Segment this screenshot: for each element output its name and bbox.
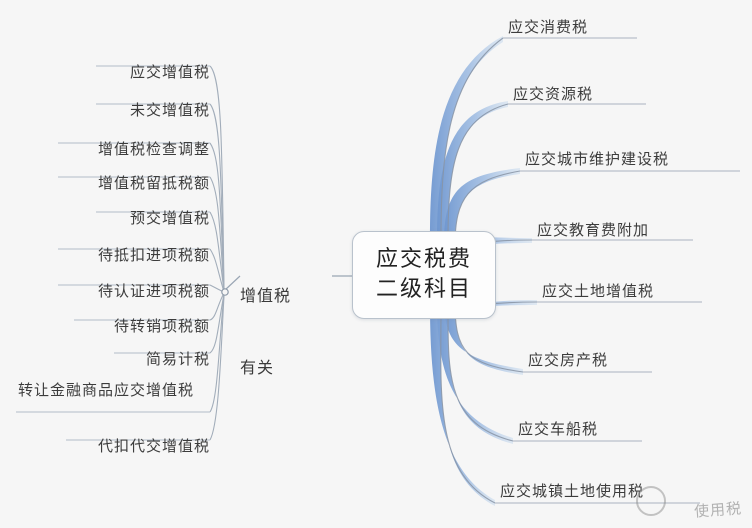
center-node-line2: 二级科目 [376, 275, 472, 305]
right-leaf-3[interactable]: 应交教育费附加 [537, 221, 689, 240]
right-leaf-2[interactable]: 应交城市维护建设税 [525, 150, 737, 169]
mid-node-vat-related[interactable]: 增值税 有关 [240, 236, 332, 428]
right-leaf-0[interactable]: 应交消费税 [508, 18, 628, 37]
left-leaf-1[interactable]: 未交增值税 [98, 101, 210, 120]
mindmap-canvas: 应交税费 二级科目 增值税 有关 应交增值税未交增值税增值税检查调整增值税留抵税… [0, 0, 752, 528]
right-leaf-5[interactable]: 应交房产税 [528, 351, 648, 370]
left-leaf-0[interactable]: 应交增值税 [98, 63, 210, 82]
right-leaf-7[interactable]: 应交城镇土地使用税 [500, 482, 696, 501]
center-node[interactable]: 应交税费 二级科目 [352, 231, 496, 319]
left-leaf-9[interactable]: 转让金融商品应交增值税 [18, 381, 210, 400]
left-curves [210, 66, 224, 440]
right-leaf-6[interactable]: 应交车船税 [518, 420, 638, 439]
right-leaf-4[interactable]: 应交土地增值税 [542, 282, 698, 301]
left-leaf-3[interactable]: 增值税留抵税额 [60, 174, 210, 193]
left-leaf-8[interactable]: 简易计税 [116, 350, 210, 369]
left-leaf-7[interactable]: 待转销项税额 [76, 317, 210, 336]
left-leaf-10[interactable]: 代扣代交增值税 [68, 437, 210, 456]
left-junction-node [222, 289, 228, 295]
center-node-line1: 应交税费 [376, 245, 472, 275]
left-leaf-5[interactable]: 待抵扣进项税额 [60, 246, 210, 265]
mid-node-line1: 增值税 [240, 284, 332, 308]
left-leaf-4[interactable]: 预交增值税 [98, 209, 210, 228]
circle-stamp-icon [636, 486, 666, 516]
left-leaf-6[interactable]: 待认证进项税额 [60, 282, 210, 301]
right-leaf-1[interactable]: 应交资源税 [513, 85, 633, 104]
mid-node-line2: 有关 [240, 356, 332, 380]
left-leaf-2[interactable]: 增值税检查调整 [60, 140, 210, 159]
watermark-text: 使用税 [693, 497, 742, 521]
